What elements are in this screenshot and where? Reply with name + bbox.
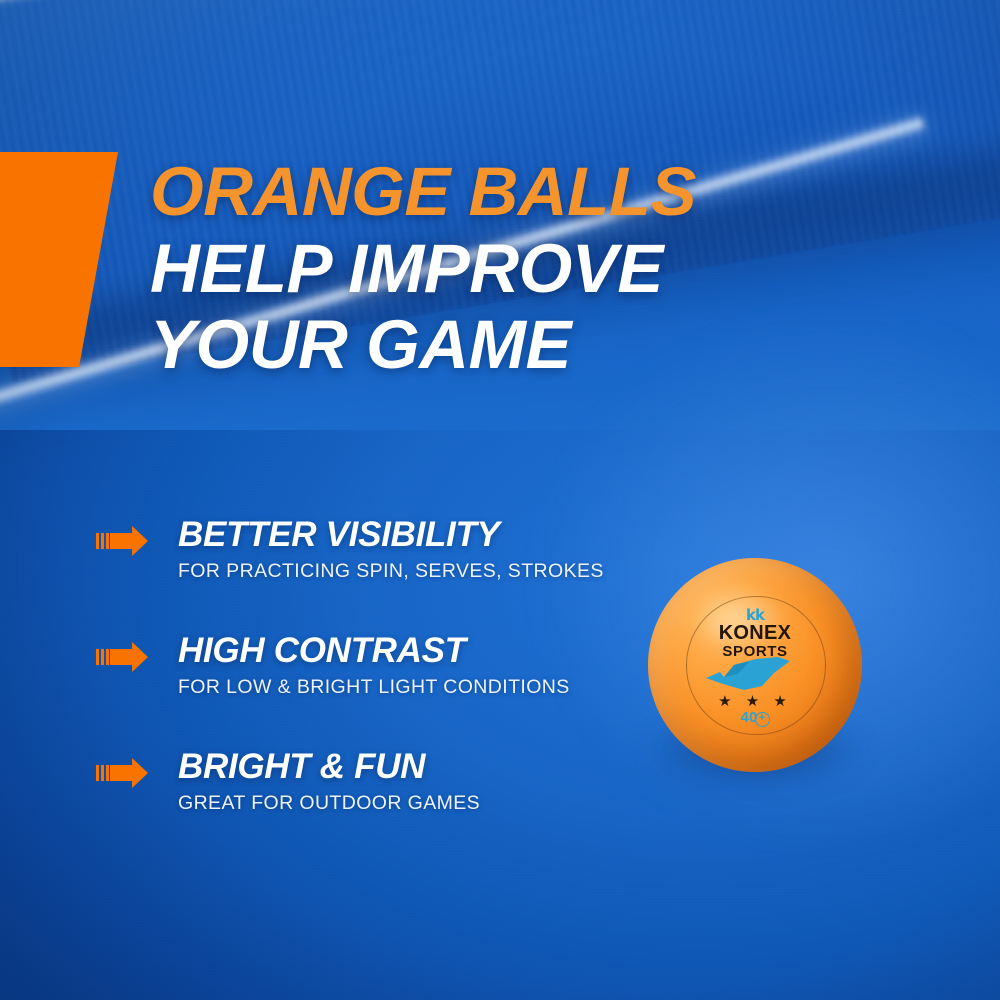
logo-size-suffix: + [755, 712, 770, 727]
ball-logo: kk KONEX SPORTS ★ ★ ★ 40+ [686, 596, 824, 734]
feature-item: BRIGHT & FUN GREAT FOR OUTDOOR GAMES [96, 748, 656, 838]
bird-swoosh-icon [704, 656, 806, 692]
texture-grain [0, 0, 1000, 1000]
feature-list: BETTER VISIBILITY FOR PRACTICING SPIN, S… [96, 516, 656, 838]
arrow-right-icon [96, 526, 148, 556]
feature-subtitle: FOR LOW & BRIGHT LIGHT CONDITIONS [178, 676, 656, 699]
feature-title: HIGH CONTRAST [178, 632, 656, 669]
feature-subtitle: GREAT FOR OUTDOOR GAMES [178, 792, 656, 815]
feature-title: BRIGHT & FUN [178, 748, 656, 785]
arrow-right-icon [96, 758, 148, 788]
product-ball: kk KONEX SPORTS ★ ★ ★ 40+ [648, 558, 862, 772]
arrow-right-icon [96, 642, 148, 672]
logo-size-mark: 40+ [686, 709, 824, 727]
headline-line-1: ORANGE BALLS [150, 158, 910, 226]
feature-subtitle: FOR PRACTICING SPIN, SERVES, STROKES [178, 560, 656, 583]
promo-banner: ORANGE BALLS HELP IMPROVE YOUR GAME BETT… [0, 0, 1000, 1000]
headline-line-2: HELP IMPROVE [150, 235, 910, 303]
logo-brand-name: KONEX [686, 622, 824, 645]
feature-title: BETTER VISIBILITY [178, 516, 656, 553]
feature-item: HIGH CONTRAST FOR LOW & BRIGHT LIGHT CON… [96, 632, 656, 722]
ball-body: kk KONEX SPORTS ★ ★ ★ 40+ [648, 558, 862, 772]
feature-item: BETTER VISIBILITY FOR PRACTICING SPIN, S… [96, 516, 656, 606]
logo-stars: ★ ★ ★ [686, 692, 824, 710]
headline-line-3: YOUR GAME [150, 311, 910, 379]
headline-block: ORANGE BALLS HELP IMPROVE YOUR GAME [150, 158, 910, 379]
